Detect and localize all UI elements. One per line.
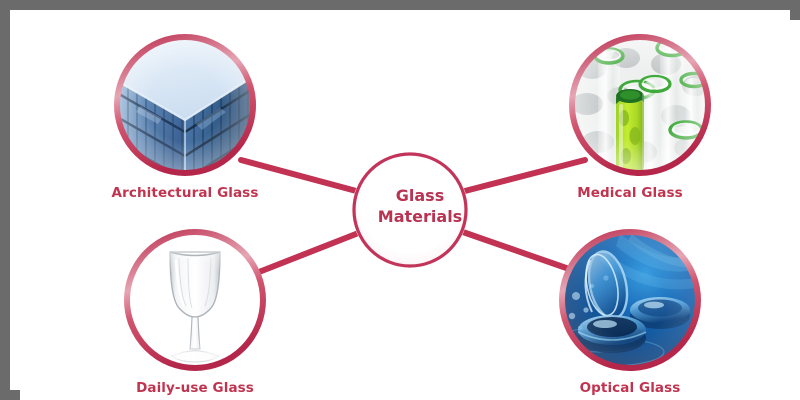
node-daily[interactable] [127, 232, 263, 368]
node-medical[interactable] [571, 37, 710, 176]
center-label-line1: Glass [345, 185, 495, 206]
connector-optical [460, 231, 572, 270]
connector-daily [259, 232, 361, 272]
optical-lenses-icon [552, 234, 696, 366]
image-frame: Glass Materials Architectural Glass Medi… [0, 0, 800, 400]
center-label: Glass Materials [345, 185, 495, 227]
node-architectural[interactable] [117, 37, 253, 180]
center-label-line2: Materials [345, 206, 495, 227]
label-medical-glass: Medical Glass [500, 185, 760, 201]
label-architectural-glass: Architectural Glass [55, 185, 315, 201]
label-optical-glass: Optical Glass [500, 380, 760, 396]
node-optical[interactable] [552, 232, 698, 368]
label-daily-use-glass: Daily-use Glass [65, 380, 325, 396]
diagram-canvas: Glass Materials Architectural Glass Medi… [20, 20, 800, 400]
